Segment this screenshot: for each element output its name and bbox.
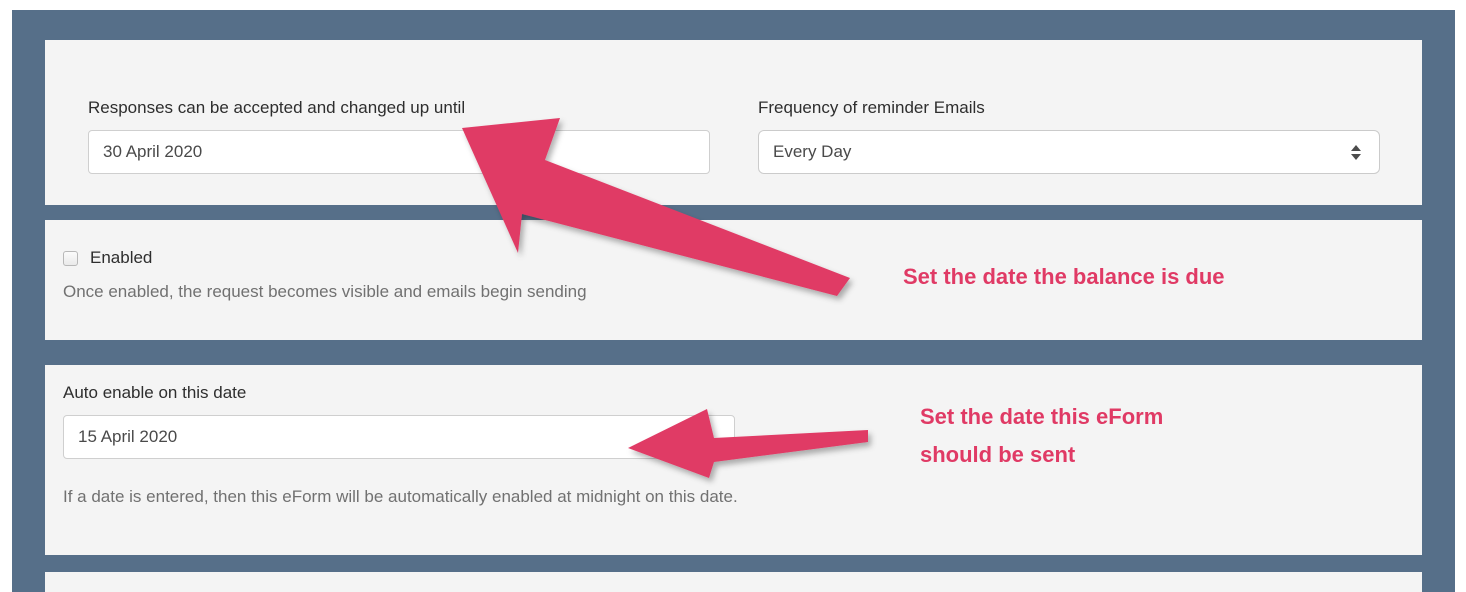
- enabled-checkbox[interactable]: [63, 251, 78, 266]
- eform-send-annotation: Set the date this eForm should be sent: [920, 398, 1163, 474]
- auto-enable-label: Auto enable on this date: [63, 383, 735, 403]
- auto-enable-helper-text: If a date is entered, then this eForm wi…: [63, 487, 738, 507]
- updown-spinner-icon[interactable]: [1351, 145, 1361, 160]
- auto-enable-input[interactable]: 15 April 2020: [63, 415, 735, 459]
- enabled-helper-text: Once enabled, the request becomes visibl…: [63, 282, 587, 302]
- field-auto-enable: Auto enable on this date 15 April 2020: [63, 383, 735, 459]
- field-frequency: Frequency of reminder Emails Every Day: [758, 98, 1380, 174]
- frequency-select-value: Every Day: [773, 142, 851, 162]
- deadline-input[interactable]: 30 April 2020: [88, 130, 710, 174]
- panel-autoenable: Auto enable on this date 15 April 2020 I…: [45, 365, 1422, 555]
- deadline-label: Responses can be accepted and changed up…: [88, 98, 710, 118]
- enabled-checkbox-row[interactable]: Enabled: [63, 248, 152, 268]
- frequency-select[interactable]: Every Day: [758, 130, 1380, 174]
- panel-next-section: [45, 572, 1422, 592]
- enabled-checkbox-label: Enabled: [90, 248, 152, 268]
- frequency-label: Frequency of reminder Emails: [758, 98, 1380, 118]
- chevron-down-icon: [1351, 154, 1361, 160]
- chevron-up-icon: [1351, 145, 1361, 151]
- panel-schedule: Responses can be accepted and changed up…: [45, 40, 1422, 205]
- field-deadline: Responses can be accepted and changed up…: [88, 98, 710, 174]
- screenshot-root: Responses can be accepted and changed up…: [0, 0, 1466, 592]
- balance-due-annotation: Set the date the balance is due: [903, 258, 1225, 296]
